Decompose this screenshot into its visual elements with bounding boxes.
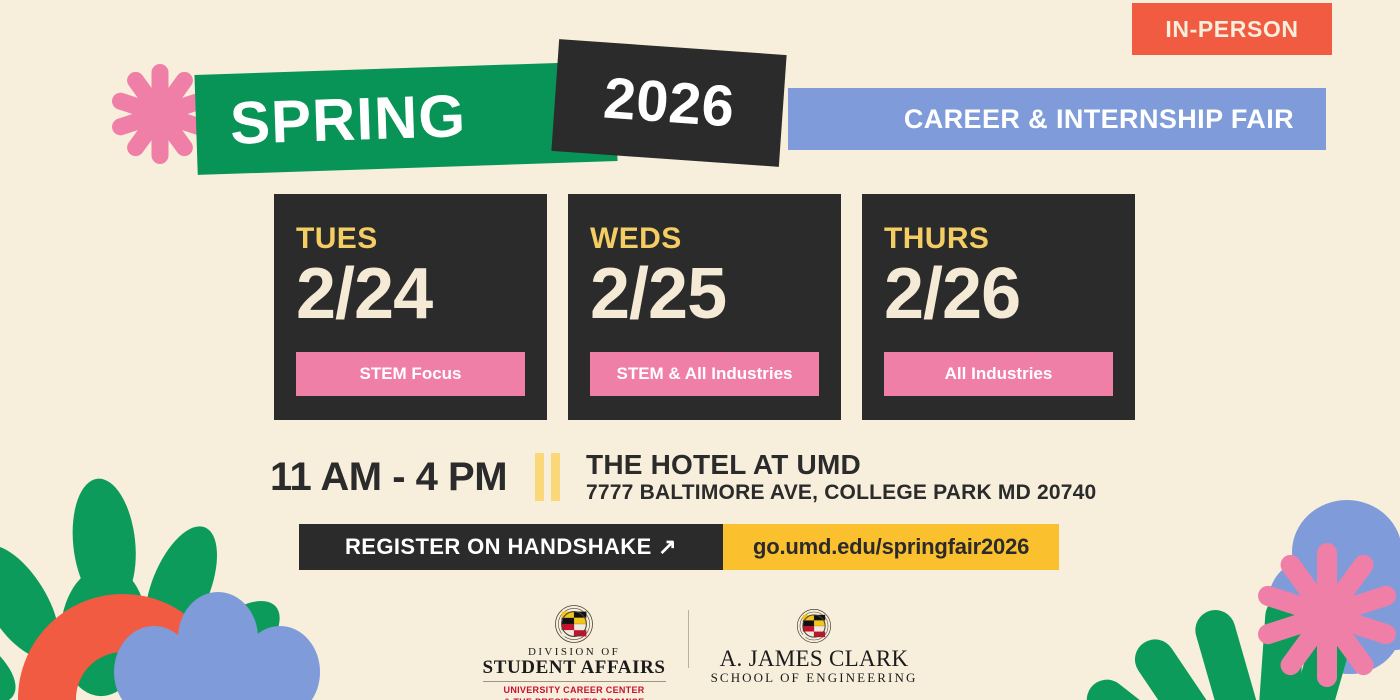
umd-seal-icon <box>554 604 594 644</box>
event-time: 11 AM - 4 PM <box>270 457 507 497</box>
date-card: WEDS 2/25 STEM & All Industries <box>568 194 841 420</box>
card-date-label: 2/26 <box>884 258 1113 331</box>
clark-line-1: A. JAMES CLARK <box>720 647 909 671</box>
date-card-list: TUES 2/24 STEM Focus WEDS 2/25 STEM & Al… <box>274 194 1135 420</box>
dsa-line-3: UNIVERSITY CAREER CENTER <box>504 684 645 696</box>
card-day-label: WEDS <box>590 224 819 254</box>
date-card: TUES 2/24 STEM Focus <box>274 194 547 420</box>
card-focus-badge: All Industries <box>884 352 1113 396</box>
clark-line-2: SCHOOL OF ENGINEERING <box>711 671 918 686</box>
year-banner: 2026 <box>551 39 786 167</box>
dsa-line-2: STUDENT AFFAIRS <box>483 658 666 678</box>
card-day-label: THURS <box>884 224 1113 254</box>
event-venue: THE HOTEL AT UMD 7777 BALTIMORE AVE, COL… <box>586 450 1096 504</box>
event-name-label: CAREER & INTERNSHIP FAIR <box>904 104 1294 135</box>
card-day-label: TUES <box>296 224 525 254</box>
logo-separator <box>688 610 689 668</box>
date-card: THURS 2/26 All Industries <box>862 194 1135 420</box>
card-focus-badge: STEM Focus <box>296 352 525 396</box>
venue-name: THE HOTEL AT UMD <box>586 450 1096 479</box>
year-label: 2026 <box>602 70 737 137</box>
card-focus-badge: STEM & All Industries <box>590 352 819 396</box>
register-cta-label: REGISTER ON HANDSHAKE ↗ <box>345 534 677 560</box>
register-on-handshake-button[interactable]: REGISTER ON HANDSHAKE ↗ <box>299 524 723 570</box>
umd-seal-icon <box>796 608 832 644</box>
vertical-divider-icon <box>535 453 560 501</box>
card-focus-label: STEM & All Industries <box>616 364 792 384</box>
dsa-line-4: & THE PRESIDENT'S PROMISE <box>504 696 645 700</box>
in-person-label: IN-PERSON <box>1165 16 1298 43</box>
register-url-link[interactable]: go.umd.edu/springfair2026 <box>723 524 1059 570</box>
dsa-rule <box>483 681 666 682</box>
partner-logos: DIVISION OF STUDENT AFFAIRS UNIVERSITY C… <box>0 604 1400 700</box>
register-url-label: go.umd.edu/springfair2026 <box>753 534 1029 560</box>
logo-clark-school-of-engineering: A. JAMES CLARK SCHOOL OF ENGINEERING <box>711 608 918 686</box>
card-date-label: 2/25 <box>590 258 819 331</box>
event-name-banner: CAREER & INTERNSHIP FAIR <box>788 88 1326 150</box>
in-person-badge: IN-PERSON <box>1132 3 1332 55</box>
card-focus-label: STEM Focus <box>359 364 461 384</box>
logo-division-of-student-affairs: DIVISION OF STUDENT AFFAIRS UNIVERSITY C… <box>483 604 666 700</box>
event-details: 11 AM - 4 PM THE HOTEL AT UMD 7777 BALTI… <box>270 450 1096 504</box>
register-bar[interactable]: REGISTER ON HANDSHAKE ↗ go.umd.edu/sprin… <box>299 524 1059 570</box>
card-date-label: 2/24 <box>296 258 525 331</box>
venue-address: 7777 BALTIMORE AVE, COLLEGE PARK MD 2074… <box>586 482 1096 504</box>
flyer-canvas: IN-PERSON CAREER & INTERNSHIP FAIR SPRIN… <box>0 0 1400 700</box>
season-label: SPRING <box>229 86 467 154</box>
card-focus-label: All Industries <box>945 364 1053 384</box>
